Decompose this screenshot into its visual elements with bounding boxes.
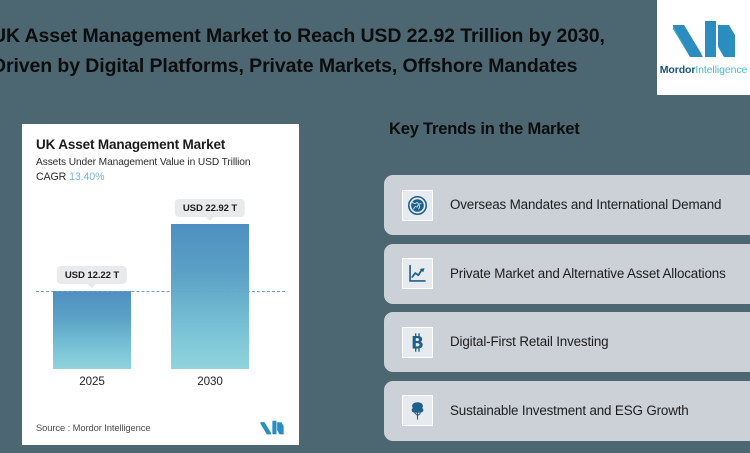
chart-subtitle: Assets Under Management Value in USD Tri… bbox=[36, 157, 285, 168]
data-label-2030: USD 22.92 T bbox=[175, 199, 245, 217]
chart-card: UK Asset Management Market Assets Under … bbox=[22, 124, 299, 445]
brand-wordmark-light: Intelligence bbox=[695, 64, 747, 76]
mordor-logo-small-icon bbox=[259, 420, 285, 435]
line-chart-icon bbox=[402, 258, 433, 289]
brand-wordmark: MordorIntelligence bbox=[660, 64, 747, 76]
cagr-label: CAGR bbox=[36, 171, 66, 183]
headline-line-2: Driven by Digital Platforms, Private Mar… bbox=[0, 52, 672, 82]
trend-card-4[interactable]: Sustainable Investment and ESG Growth bbox=[384, 381, 750, 441]
x-tick-2025: 2025 bbox=[79, 375, 104, 388]
trend-card-1[interactable]: Overseas Mandates and International Dema… bbox=[384, 175, 750, 235]
trend-label-1: Overseas Mandates and International Dema… bbox=[450, 196, 721, 214]
source-label: Source : bbox=[36, 422, 70, 433]
trend-label-4: Sustainable Investment and ESG Growth bbox=[450, 402, 689, 420]
source-name: Mordor Intelligence bbox=[73, 422, 151, 433]
trends-heading: Key Trends in the Market bbox=[389, 120, 580, 139]
mordor-logo-icon bbox=[671, 19, 737, 59]
chart-source-row: Source : Mordor Intelligence bbox=[36, 420, 285, 435]
chart-source-text: Source : Mordor Intelligence bbox=[36, 422, 150, 433]
trend-card-3[interactable]: BDigital-First Retail Investing bbox=[384, 312, 750, 372]
bar-2025 bbox=[53, 291, 131, 369]
chart-plot-area: USD 12.22 T2025USD 22.92 T2030 bbox=[36, 204, 285, 397]
headline-line-1: UK Asset Management Market to Reach USD … bbox=[0, 22, 672, 52]
x-tick-2030: 2030 bbox=[197, 375, 222, 388]
tree-icon bbox=[402, 395, 433, 426]
infographic-root: UK Asset Management Market to Reach USD … bbox=[0, 0, 750, 453]
bitcoin-icon: B bbox=[402, 327, 433, 358]
page-headline: UK Asset Management Market to Reach USD … bbox=[0, 22, 672, 81]
svg-text:B: B bbox=[411, 333, 424, 352]
brand-wordmark-bold: Mordor bbox=[660, 64, 696, 76]
bar-2030 bbox=[171, 224, 249, 369]
trend-label-3: Digital-First Retail Investing bbox=[450, 333, 608, 351]
reference-line bbox=[36, 291, 285, 292]
chart-title: UK Asset Management Market bbox=[36, 137, 285, 152]
brand-logo-panel: MordorIntelligence bbox=[657, 0, 750, 95]
globe-icon bbox=[402, 190, 433, 221]
data-label-2025: USD 12.22 T bbox=[57, 266, 127, 284]
trend-card-2[interactable]: Private Market and Alternative Asset All… bbox=[384, 244, 750, 304]
cagr-value: 13.40% bbox=[69, 171, 104, 183]
chart-cagr: CAGR 13.40% bbox=[36, 171, 285, 183]
trend-label-2: Private Market and Alternative Asset All… bbox=[450, 265, 726, 283]
